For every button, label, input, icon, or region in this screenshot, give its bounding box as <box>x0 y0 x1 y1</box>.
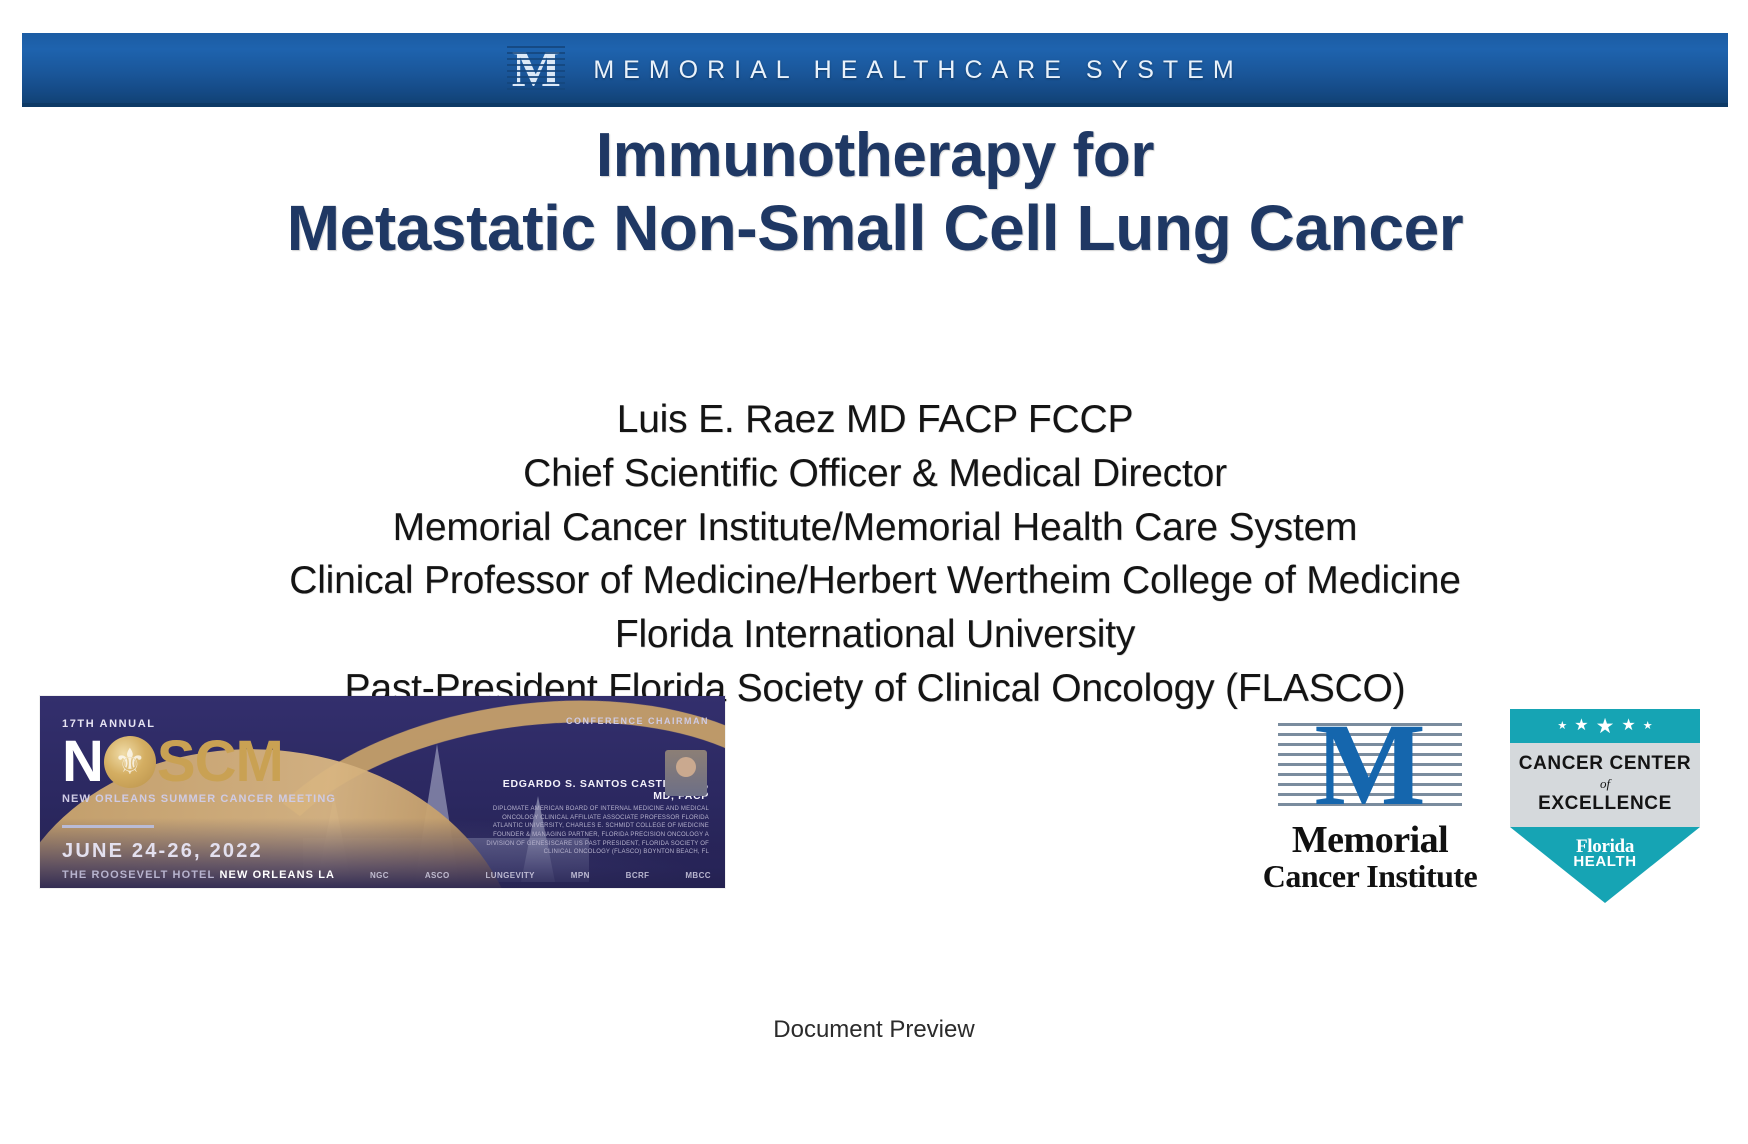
noscm-conference-banner: 17TH ANNUAL N SCM NEW ORLEANS SUMMER CAN… <box>40 696 725 888</box>
health-system-name: MEMORIAL HEALTHCARE SYSTEM <box>593 56 1242 85</box>
badge-line-2: EXCELLENCE <box>1510 793 1700 815</box>
noscm-divider <box>62 825 154 828</box>
memorial-m-logo-icon: M <box>507 44 565 96</box>
noscm-sponsor-strip: NGC ASCO LUNGEVITY MPN BCRF MBCC <box>370 871 711 880</box>
health-word: HEALTH <box>1510 854 1700 869</box>
noscm-right-column: CONFERENCE CHAIRMAN EDGARDO S. SANTOS CA… <box>479 716 709 857</box>
noscm-venue-hotel: THE ROOSEVELT HOTEL <box>62 869 215 881</box>
star-icon: ★ <box>1557 721 1567 732</box>
mci-m-mark-icon: M <box>1270 709 1470 821</box>
noscm-date: JUNE 24-26, 2022 <box>62 840 362 863</box>
document-preview-page: M MEMORIAL HEALTHCARE SYSTEM Immunothera… <box>0 0 1748 1144</box>
noscm-letters-scm: SCM <box>157 733 283 791</box>
title-line-1: Immunotherapy for <box>22 121 1728 192</box>
title-line-2: Metastatic Non-Small Cell Lung Cancer <box>22 192 1728 265</box>
noscm-letter-n: N <box>62 733 103 791</box>
mci-letter-m: M <box>1270 709 1470 821</box>
memorial-cancer-institute-logo: M Memorial Cancer Institute <box>1260 709 1480 892</box>
florida-health-chevron: Florida HEALTH <box>1510 827 1700 903</box>
badge-star-row: ★ ★ ★ ★ ★ <box>1510 709 1700 743</box>
star-icon: ★ <box>1621 718 1635 734</box>
star-icon: ★ <box>1643 721 1653 732</box>
noscm-wordmark: N SCM <box>62 733 362 791</box>
sponsor-logo: MBCC <box>685 871 711 880</box>
document-preview-caption: Document Preview <box>0 1016 1748 1044</box>
conference-chairman-label: CONFERENCE CHAIRMAN <box>479 716 709 726</box>
chairman-affiliation: DIPLOMATE AMERICAN BOARD OF INTERNAL MED… <box>479 805 709 857</box>
badge-line-1: CANCER CENTER <box>1510 753 1700 775</box>
sponsor-logo: BCRF <box>626 871 650 880</box>
badge-body: CANCER CENTER of EXCELLENCE <box>1510 743 1700 827</box>
mci-wordmark-line2: Cancer Institute <box>1260 860 1480 893</box>
sponsor-logo: ASCO <box>425 871 450 880</box>
author-institution: Memorial Cancer Institute/Memorial Healt… <box>22 501 1728 555</box>
cancer-center-of-excellence-badge: ★ ★ ★ ★ ★ CANCER CENTER of EXCELLENCE Fl… <box>1510 709 1700 903</box>
noscm-subtitle: NEW ORLEANS SUMMER CANCER MEETING <box>62 793 362 805</box>
author-name: Luis E. Raez MD FACP FCCP <box>22 393 1728 447</box>
page-title: Immunotherapy for Metastatic Non-Small C… <box>22 121 1728 265</box>
star-icon: ★ <box>1596 716 1615 737</box>
author-university: Florida International University <box>22 608 1728 662</box>
fleur-de-lis-icon <box>104 736 156 788</box>
author-professorship: Clinical Professor of Medicine/Herbert W… <box>22 554 1728 608</box>
sponsor-logo: MPN <box>571 871 590 880</box>
star-icon: ★ <box>1574 718 1588 734</box>
chairman-avatar <box>665 750 707 796</box>
sponsor-logo: LUNGEVITY <box>485 871 534 880</box>
noscm-venue: THE ROOSEVELT HOTEL NEW ORLEANS LA <box>62 869 362 881</box>
florida-health-logo: Florida HEALTH <box>1510 837 1700 869</box>
memorial-healthcare-banner: M MEMORIAL HEALTHCARE SYSTEM <box>22 33 1728 107</box>
author-role: Chief Scientific Officer & Medical Direc… <box>22 447 1728 501</box>
sponsor-logo: NGC <box>370 871 389 880</box>
noscm-left-column: 17TH ANNUAL N SCM NEW ORLEANS SUMMER CAN… <box>62 718 362 881</box>
slide-canvas: M MEMORIAL HEALTHCARE SYSTEM Immunothera… <box>22 33 1728 977</box>
noscm-venue-city: NEW ORLEANS LA <box>219 869 335 881</box>
memorial-m-letter: M <box>507 44 565 96</box>
author-block: Luis E. Raez MD FACP FCCP Chief Scientif… <box>22 393 1728 716</box>
badge-connector: of <box>1510 776 1700 792</box>
